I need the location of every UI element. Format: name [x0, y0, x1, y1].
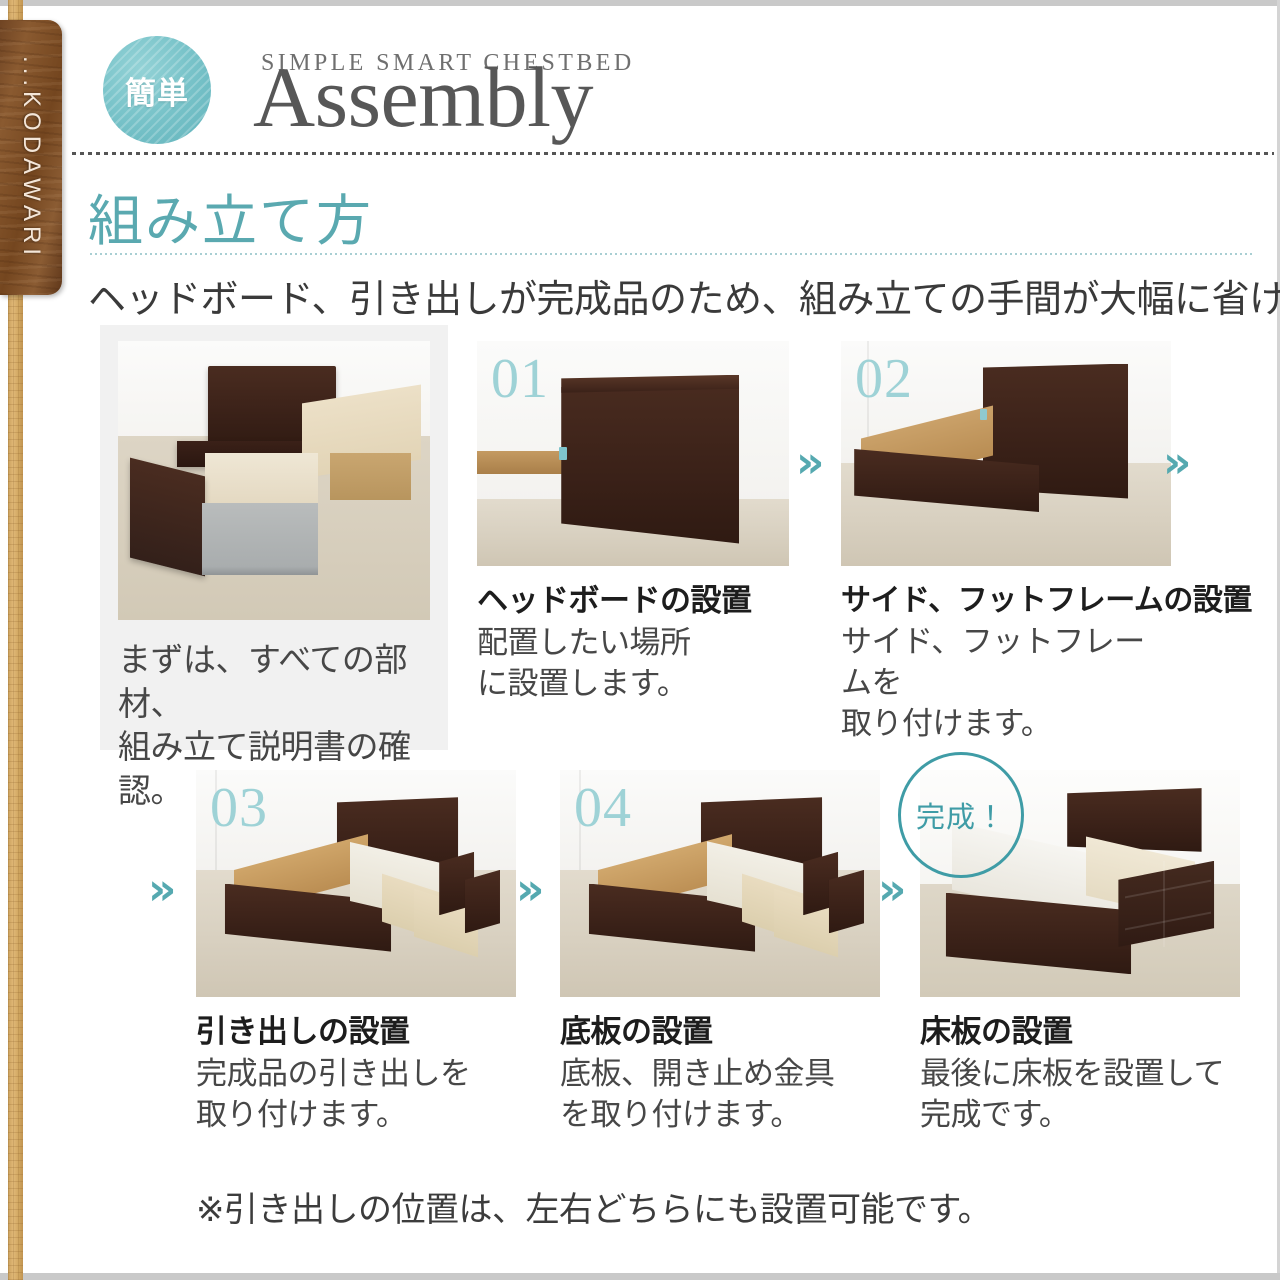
- step-photo-01: 01: [477, 341, 789, 566]
- arrow-chevron-01-to-02: »: [796, 441, 818, 485]
- completion-badge: 完成！: [898, 752, 1024, 878]
- section-heading-underline: [90, 253, 1252, 255]
- step-title-04: 底板の設置: [560, 1006, 880, 1051]
- step-title-done: 床板の設置: [920, 1006, 1240, 1051]
- step-photo-04: 04: [560, 770, 880, 997]
- section-heading: 組み立て方: [88, 176, 373, 256]
- step-caption-done: 最後に床板を設置して 完成です。: [920, 1054, 1240, 1136]
- step-caption-03: 完成品の引き出しを 取り付けます。: [196, 1054, 516, 1136]
- arrow-chevron-03-to-04: »: [516, 868, 538, 912]
- step-number-04: 04: [574, 776, 632, 840]
- page-title: Assembly: [253, 54, 593, 140]
- step-caption-01: 配置したい場所 に設置します。: [477, 623, 789, 705]
- step-title-03: 引き出しの設置: [196, 1006, 516, 1051]
- arrow-chevron-into-03: »: [148, 868, 170, 912]
- step-number-03: 03: [210, 776, 268, 840]
- step-photo-03: 03: [196, 770, 516, 997]
- kodawari-side-tab[interactable]: ...KODAWARI: [0, 20, 62, 295]
- step-panel-02: 02 サイド、フットフレームの設置 サイド、フットフレームを 取り付けます。: [841, 341, 1171, 745]
- page-header: 簡単 SIMPLE SMART CHESTBED Assembly: [103, 22, 1203, 142]
- bottom-divider-bar: [0, 1273, 1280, 1280]
- arrow-chevron-04-to-done: »: [878, 868, 900, 912]
- step-title-02: サイド、フットフレームの設置: [841, 575, 1171, 619]
- header-dotted-divider: [72, 152, 1274, 155]
- kantan-badge: 簡単: [103, 36, 211, 144]
- step-title-01: ヘッドボードの設置: [477, 575, 789, 620]
- step-panel-01: 01 ヘッドボードの設置 配置したい場所 に設置します。: [477, 341, 789, 705]
- step-photo-parts: [118, 341, 430, 620]
- arrow-chevron-02-to-03: »: [1163, 441, 1185, 485]
- page-root: ...KODAWARI 簡単 SIMPLE SMART CHESTBED Ass…: [0, 0, 1280, 1280]
- step-caption-02: サイド、フットフレームを 取り付けます。: [841, 622, 1171, 745]
- top-divider-bar: [0, 0, 1280, 6]
- step-number-02: 02: [855, 347, 913, 411]
- step-photo-02: 02: [841, 341, 1171, 566]
- step-number-01: 01: [491, 347, 549, 411]
- kantan-badge-label: 簡単: [125, 68, 189, 113]
- kodawari-side-tab-label: ...KODAWARI: [17, 56, 45, 260]
- step-panel-parts: まずは、すべての部材、 組み立て説明書の確認。: [118, 341, 430, 812]
- step-panel-03: 03 引き出しの設置 完成品の引き出しを 取り付けます。: [196, 770, 516, 1136]
- step-caption-04: 底板、開き止め金具 を取り付けます。: [560, 1054, 880, 1136]
- photo-scene-parts: [118, 341, 430, 620]
- footnote-note: ※引き出しの位置は、左右どちらにも設置可能です。: [196, 1182, 991, 1231]
- completion-badge-label: 完成！: [916, 794, 1006, 836]
- section-lead-text: ヘッドボード、引き出しが完成品のため、組み立ての手間が大幅に省け、簡単です。: [88, 268, 1280, 323]
- step-panel-04: 04 底板の設置 底板、開き止め金具 を取り付けます。: [560, 770, 880, 1136]
